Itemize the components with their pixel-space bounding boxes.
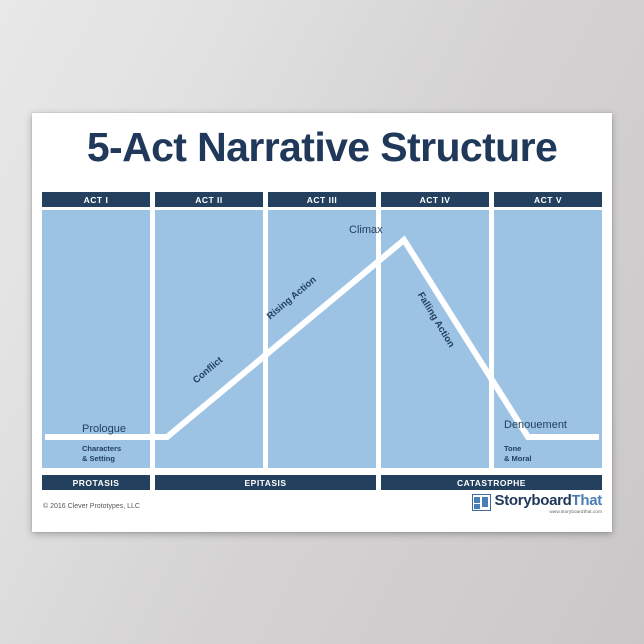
brand-name-dark: Storyboard: [495, 492, 572, 509]
label-denouement-sub-line1: Tone: [504, 444, 521, 453]
storyboardthat-logo: StoryboardThat www.storyboardthat.com: [472, 493, 602, 515]
act-header-4: ACT IV: [381, 192, 489, 207]
structure-cell-catastrophe: CATASTROPHE: [381, 475, 602, 490]
act-header-3: ACT III: [268, 192, 376, 207]
poster: 5-Act Narrative Structure ACT I ACT II A…: [32, 113, 612, 532]
structure-cell-epitasis: EPITASIS: [155, 475, 376, 490]
act-header-band: ACT I ACT II ACT III ACT IV ACT V: [42, 192, 602, 207]
brand-url: www.storyboardthat.com: [550, 510, 603, 515]
act-header-2: ACT II: [155, 192, 263, 207]
copyright-text: © 2016 Clever Prototypes, LLC: [43, 503, 140, 510]
act-column-2: [155, 210, 263, 468]
act-header-1: ACT I: [42, 192, 150, 207]
brand-name-accent: That: [572, 492, 602, 509]
structure-band: PROTASIS EPITASIS CATASTROPHE: [42, 475, 602, 490]
label-denouement: Denouement: [504, 419, 567, 431]
label-prologue: Prologue: [82, 423, 126, 435]
act-column-3: [268, 210, 376, 468]
label-climax: Climax: [349, 224, 383, 236]
structure-cell-protasis: PROTASIS: [42, 475, 150, 490]
act-column-4: [381, 210, 489, 468]
label-prologue-sub-line1: Characters: [82, 444, 121, 453]
brand-name: StoryboardThat: [495, 493, 602, 508]
brand-text: StoryboardThat www.storyboardthat.com: [495, 493, 602, 515]
page-title: 5-Act Narrative Structure: [32, 127, 612, 168]
label-denouement-sub-line2: & Moral: [504, 454, 532, 463]
storyboard-mark-icon: [472, 494, 491, 511]
label-prologue-sub-line2: & Setting: [82, 454, 115, 463]
act-header-5: ACT V: [494, 192, 602, 207]
